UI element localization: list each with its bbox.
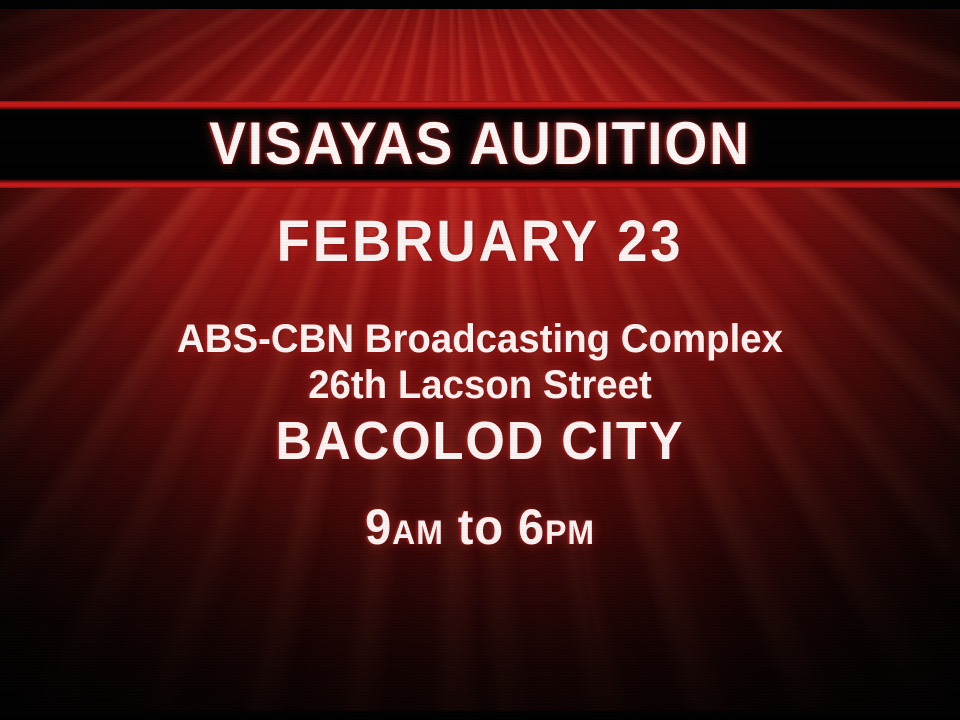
time-connector: to	[444, 499, 518, 555]
title-band: VISAYAS AUDITION	[0, 101, 960, 188]
divider-rule-bottom	[0, 179, 960, 188]
divider-rule-top	[0, 101, 960, 110]
page-title: VISAYAS AUDITION	[38, 114, 921, 174]
audition-slate: VISAYAS AUDITION FEBRUARY 23 ABS-CBN Bro…	[0, 0, 960, 720]
venue-street: 26th Lacson Street	[19, 362, 941, 408]
letterbox-top	[0, 0, 960, 9]
slate-copy: FEBRUARY 23 ABS-CBN Broadcasting Complex…	[0, 206, 960, 562]
audition-date: FEBRUARY 23	[29, 206, 931, 278]
time-start-meridiem: AM	[392, 514, 444, 552]
venue-city: BACOLOD CITY	[29, 410, 931, 472]
letterbox-bottom	[0, 711, 960, 720]
venue-name: ABS-CBN Broadcasting Complex	[19, 316, 941, 362]
time-start-hour: 9	[365, 499, 392, 555]
time-end-hour: 6	[518, 499, 545, 555]
time-end-meridiem: PM	[545, 514, 595, 552]
audition-time: 9AM to 6PM	[29, 498, 931, 562]
